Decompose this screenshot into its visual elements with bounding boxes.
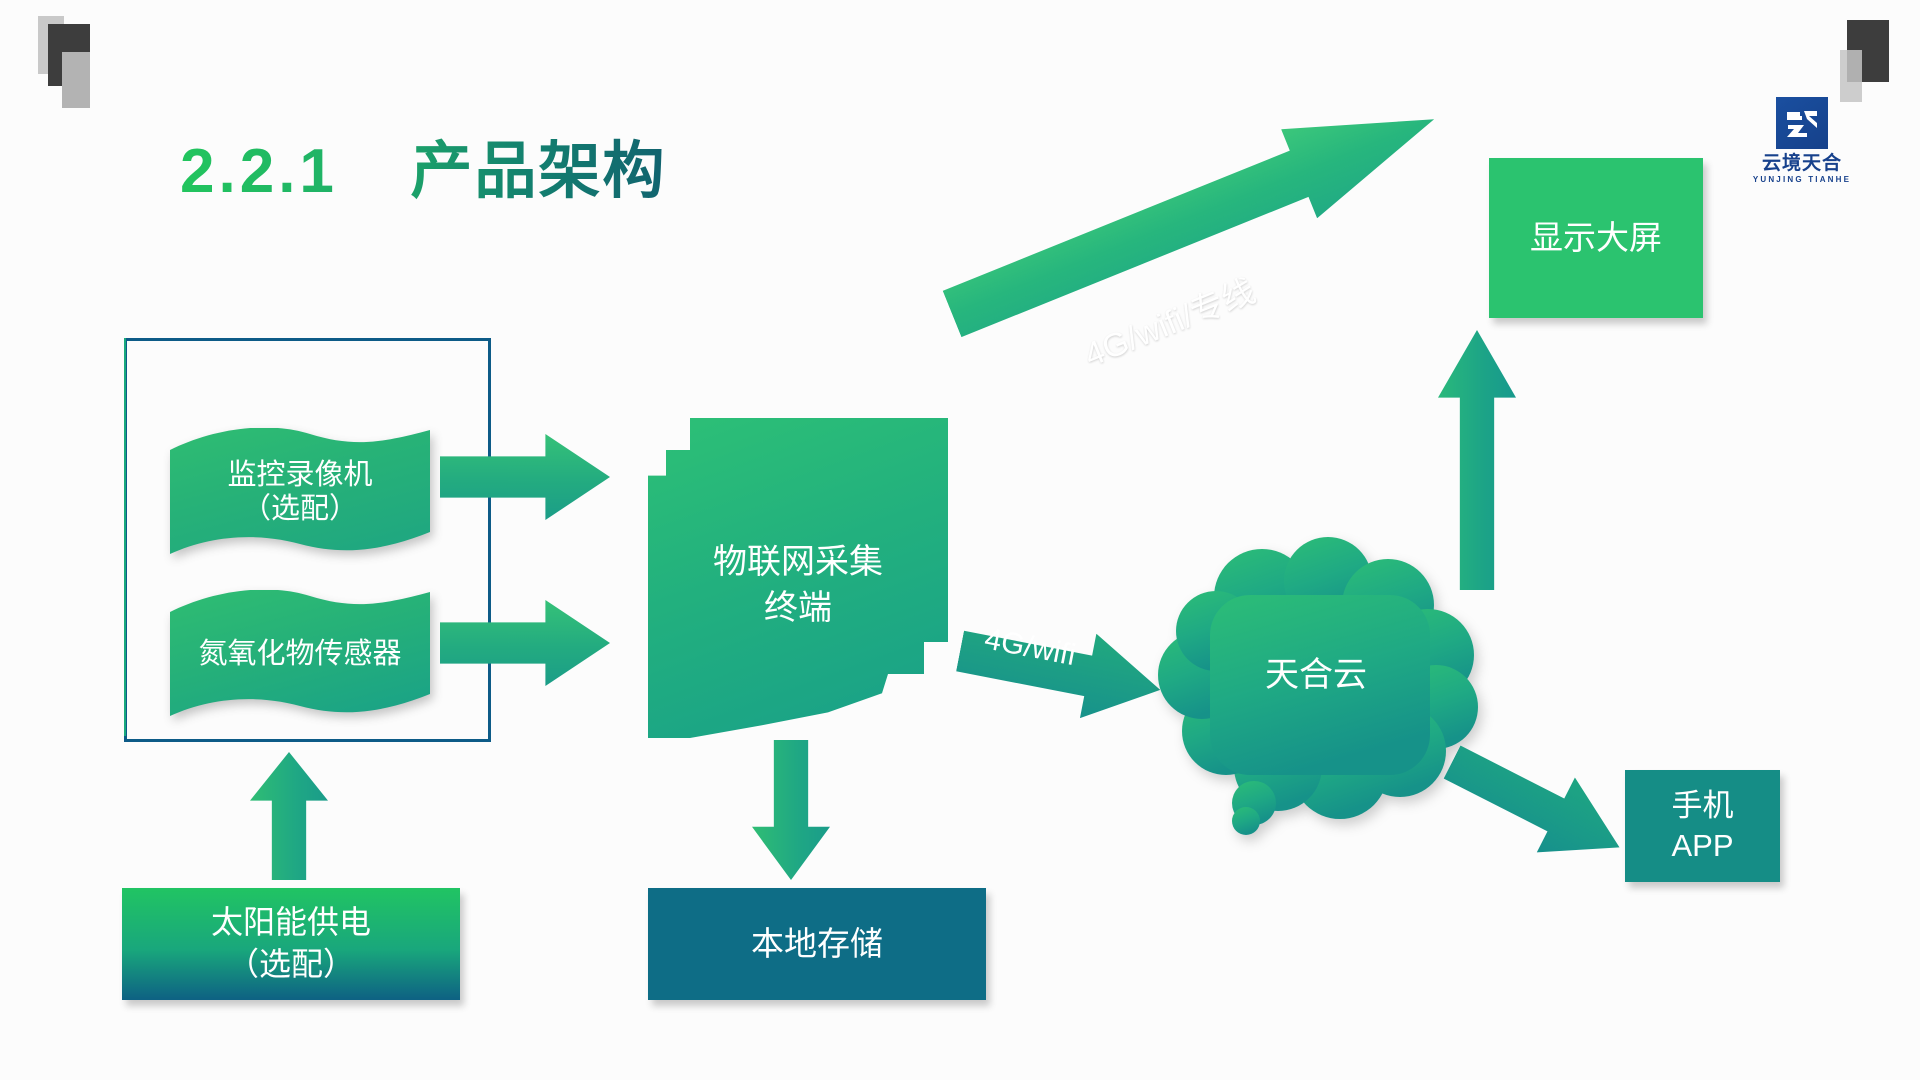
slide-canvas: 2.2.1 产品架构 云境天合 YUNJING TIANHE 监控录像机 （选配…	[0, 0, 1920, 1080]
node-local-storage-label: 本地存储	[751, 923, 883, 966]
node-dvr-line1: 监控录像机	[227, 458, 372, 492]
logo-mark-icon	[1776, 97, 1828, 149]
node-nox-sensor[interactable]: 氮氧化物传感器	[170, 590, 430, 718]
title-number: 2.2.1	[180, 137, 338, 206]
node-solar-power-label: 太阳能供电 （选配）	[211, 902, 371, 985]
node-dvr-label: 监控录像机 （选配）	[227, 458, 372, 526]
node-iot-terminal[interactable]: 物联网采集 终端	[648, 418, 948, 738]
page-title: 2.2.1 产品架构	[180, 120, 666, 210]
logo-en-text: YUNJING TIANHE	[1742, 176, 1862, 184]
node-solar-line1: 太阳能供电	[211, 902, 371, 944]
node-iot-line1: 物联网采集	[713, 540, 883, 586]
decor-block-top-right-light	[1840, 50, 1862, 102]
node-nox-sensor-label: 氮氧化物传感器	[198, 637, 401, 671]
node-dvr-line2: （选配）	[227, 492, 372, 526]
node-dvr[interactable]: 监控录像机 （选配）	[170, 428, 430, 556]
node-tianhe-cloud[interactable]: 天合云	[1150, 535, 1490, 835]
node-tianhe-cloud-label: 天合云	[1265, 647, 1367, 696]
logo-cn-text: 云境天合	[1742, 154, 1862, 173]
node-display-screen[interactable]: 显示大屏	[1489, 158, 1703, 318]
node-iot-line2: 终端	[713, 586, 883, 632]
down-arrow-icon-iot-to-storage	[752, 740, 830, 880]
node-local-storage[interactable]: 本地存储	[648, 888, 986, 1000]
edge-label-4g-wifi-zhuanxian: 4G/wifi/专线	[1076, 264, 1262, 376]
node-mobile-app[interactable]: 手机 APP	[1625, 770, 1780, 882]
decor-block-top-left-mid	[62, 52, 90, 108]
node-app-line2: APP	[1671, 826, 1733, 866]
title-text: 产品架构	[410, 137, 666, 206]
node-iot-terminal-label: 物联网采集 终端	[713, 540, 883, 632]
up-arrow-icon-solar-to-group	[250, 752, 328, 880]
node-display-screen-label: 显示大屏	[1530, 217, 1662, 260]
brand-logo: 云境天合 YUNJING TIANHE	[1742, 97, 1862, 184]
node-solar-line2: （选配）	[211, 944, 371, 986]
node-app-line1: 手机	[1671, 786, 1733, 826]
node-mobile-app-label: 手机 APP	[1671, 786, 1733, 867]
node-solar-power[interactable]: 太阳能供电 （选配）	[122, 888, 460, 1000]
